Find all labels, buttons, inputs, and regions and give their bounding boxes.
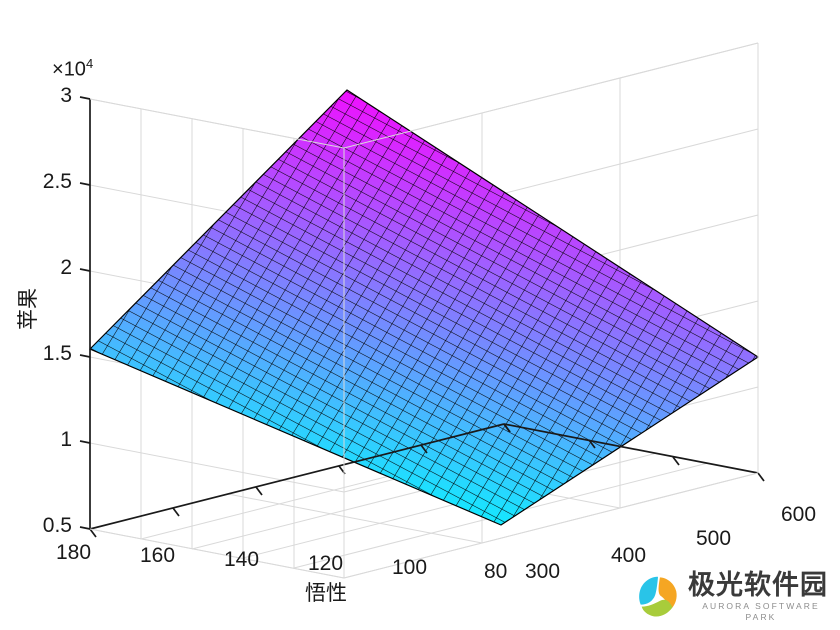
z-tick-label: 2 (20, 257, 72, 278)
figure-window: ×104 3 2.5 2 1.5 1 0.5 180 160 140 120 1… (0, 0, 840, 630)
x-tick-label: 120 (308, 553, 343, 574)
aurora-logo-icon (634, 573, 682, 621)
x-tick-label: 140 (224, 549, 259, 570)
watermark-name-en: AURORA SOFTWARE PARK (688, 601, 834, 621)
x-tick-label: 100 (392, 557, 427, 578)
z-tick-label: 3 (20, 85, 72, 106)
watermark: 极光软件园 AURORA SOFTWARE PARK (634, 568, 834, 626)
x-axis-label: 悟性 (305, 583, 347, 604)
z-tick-label: 1.5 (20, 343, 72, 364)
x-tick-label: 160 (140, 545, 175, 566)
watermark-text: 极光软件园 AURORA SOFTWARE PARK (688, 572, 834, 622)
surface-mesh (60, 60, 800, 560)
matlab-figure-canvas: ×104 3 2.5 2 1.5 1 0.5 180 160 140 120 1… (0, 0, 840, 630)
y-tick-label: 600 (781, 504, 816, 525)
z-axis-label: 苹果 (18, 288, 39, 330)
x-tick-label: 180 (56, 542, 91, 563)
y-tick-label: 300 (525, 561, 560, 582)
z-tick-label: 1 (20, 429, 72, 450)
z-tick-label: 2.5 (20, 171, 72, 192)
z-axis-exponent: ×104 (52, 57, 93, 80)
watermark-name-cn: 极光软件园 (688, 572, 834, 600)
y-tick-label: 500 (696, 528, 731, 549)
x-tick-label: 80 (484, 561, 507, 582)
y-tick-label: 400 (611, 545, 646, 566)
z-tick-label: 0.5 (20, 515, 72, 536)
z-axis-ticks (80, 97, 90, 529)
